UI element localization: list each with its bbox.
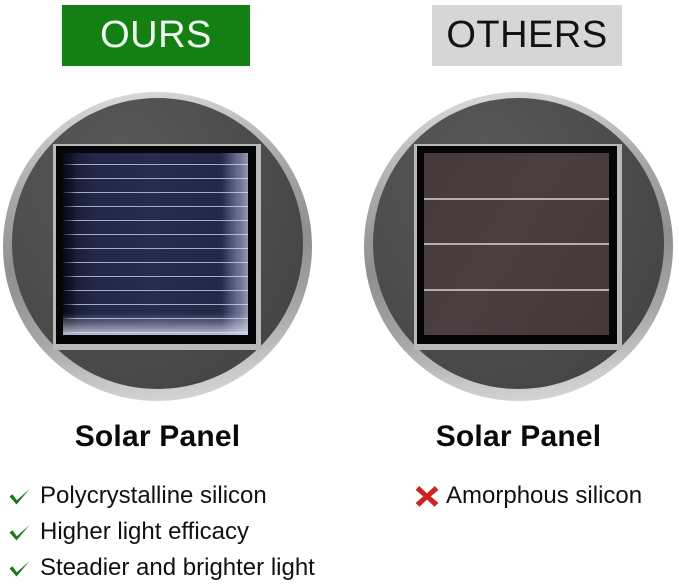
- feature-label: Amorphous silicon: [446, 484, 642, 508]
- cross-icon: [412, 481, 442, 511]
- cell-segment-line: [424, 289, 609, 291]
- feature-item: Polycrystalline silicon: [6, 478, 315, 514]
- badge-ours: OURS: [62, 5, 250, 66]
- feature-label: Higher light efficacy: [40, 520, 249, 544]
- badge-others: OTHERS: [432, 5, 622, 66]
- feature-label: Polycrystalline silicon: [40, 484, 267, 508]
- solar-cell-polycrystalline: [63, 153, 248, 335]
- feature-list-ours: Polycrystalline silicon Higher light eff…: [6, 478, 315, 586]
- feature-item: Steadier and brighter light: [6, 550, 315, 586]
- feature-list-others: Amorphous silicon: [412, 478, 642, 514]
- check-icon: [6, 553, 36, 583]
- cell-right-glow: [222, 153, 248, 335]
- check-icon: [6, 481, 36, 511]
- product-image-ours: [3, 92, 312, 401]
- feature-item: Higher light efficacy: [6, 514, 315, 550]
- feature-label: Steadier and brighter light: [40, 556, 315, 580]
- panel-bezel-ours: [56, 146, 256, 344]
- caption-ours: Solar Panel: [3, 420, 312, 454]
- cell-segment-line: [424, 243, 609, 245]
- cell-segment-line: [424, 198, 609, 200]
- panel-bezel-others: [417, 146, 617, 344]
- feature-item: Amorphous silicon: [412, 478, 642, 514]
- cell-left-shadow: [63, 153, 77, 335]
- caption-others: Solar Panel: [364, 420, 673, 454]
- cell-bottom-glow: [63, 313, 248, 335]
- busbar-lines: [63, 153, 248, 335]
- solar-cell-amorphous: [424, 153, 609, 335]
- product-image-others: [364, 92, 673, 401]
- check-icon: [6, 517, 36, 547]
